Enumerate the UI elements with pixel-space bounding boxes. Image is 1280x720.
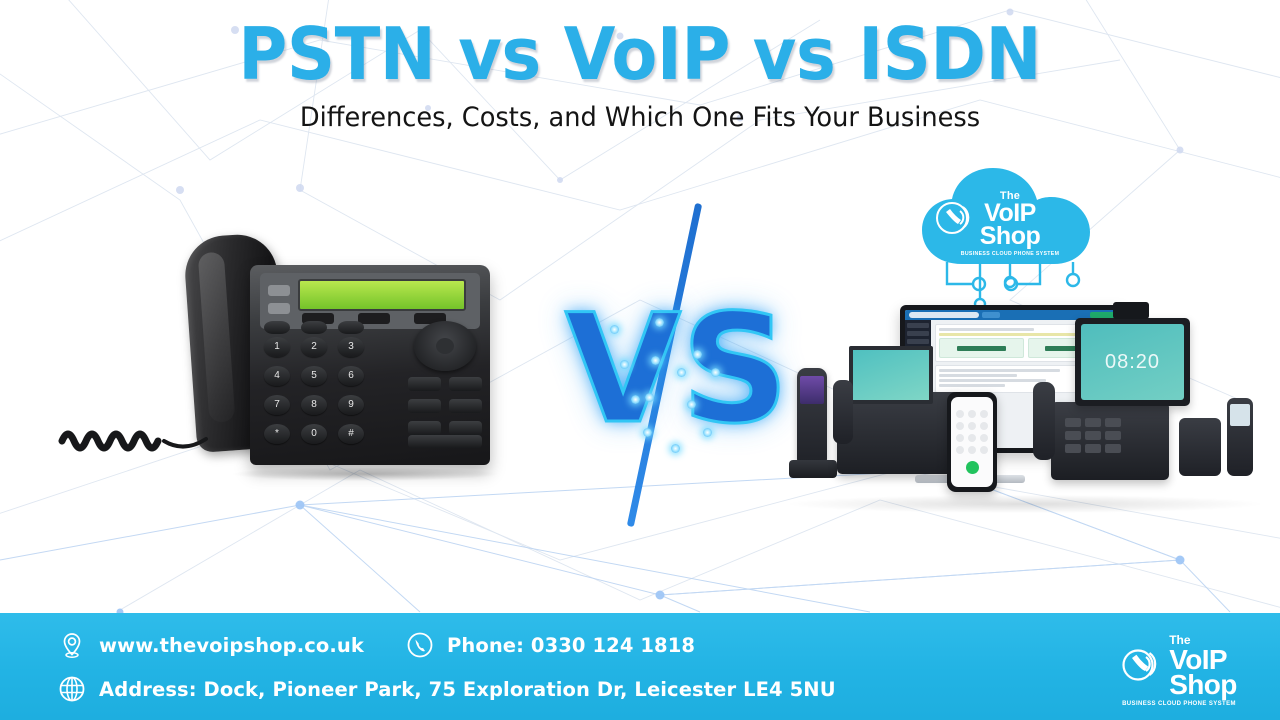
phone-base: 123 456 789 *0#	[250, 265, 490, 465]
logo-tagline: BUSINESS CLOUD PHONE SYSTEM	[920, 251, 1100, 257]
marquee-bulb	[703, 428, 712, 437]
versus-graphic: VS	[565, 200, 765, 530]
cordless-handset-screen	[800, 376, 824, 404]
marquee-bulb	[610, 325, 619, 334]
marquee-bulb	[687, 400, 696, 409]
message-key[interactable]	[449, 421, 482, 435]
pstn-desk-phone: 123 456 789 *0#	[50, 235, 490, 485]
dashboard-filter[interactable]	[982, 312, 1000, 318]
marquee-bulb	[643, 428, 652, 437]
keypad-row: 456	[264, 366, 394, 386]
marquee-bulb	[693, 350, 702, 359]
keypad-key[interactable]: 1	[264, 337, 290, 357]
keypad-key[interactable]: #	[338, 424, 364, 444]
marquee-bulb	[651, 356, 660, 365]
footer-phone[interactable]: Phone: 0330 124 1818	[406, 631, 695, 659]
keypad-key[interactable]: 9	[338, 395, 364, 415]
phone-sidekey[interactable]	[268, 285, 290, 296]
transfer-key[interactable]	[408, 399, 441, 413]
phone-cord	[54, 421, 214, 455]
footer-address-text: Address: Dock, Pioneer Park, 75 Explorat…	[99, 678, 836, 701]
headset-key[interactable]	[449, 377, 482, 391]
phone-function-key[interactable]	[301, 321, 327, 334]
keypad-row: *0#	[264, 424, 394, 444]
video-unit-screen: 08:20	[1081, 324, 1184, 400]
volume-rocker[interactable]	[408, 435, 482, 448]
phone-function-keys	[264, 321, 394, 334]
footer-website-text: www.thevoipshop.co.uk	[99, 634, 364, 657]
keypad-key[interactable]: 6	[338, 366, 364, 386]
voip-device-cluster: The VoIP Shop BUSINESS CLOUD PHONE SYSTE…	[775, 150, 1275, 613]
footer-logo-tagline: BUSINESS CLOUD PHONE SYSTEM	[1104, 701, 1254, 707]
marquee-bulb	[671, 444, 680, 453]
dashboard-search-field[interactable]	[909, 312, 979, 318]
keypad-key[interactable]: 7	[264, 395, 290, 415]
call-button[interactable]	[966, 461, 979, 474]
conference-key[interactable]	[449, 399, 482, 413]
phone-feature-keys	[408, 377, 482, 443]
keypad-key[interactable]: 3	[338, 337, 364, 357]
dialer-keypad[interactable]	[956, 410, 988, 454]
ip-phone-handset	[833, 380, 853, 444]
keypad-key[interactable]: 0	[301, 424, 327, 444]
executive-phone-keypad[interactable]	[1065, 418, 1121, 453]
circuit-lines-icon	[925, 262, 1095, 307]
footer-logo: The VoIP Shop BUSINESS CLOUD PHONE SYSTE…	[1104, 633, 1254, 707]
footer-logo-shop: Shop	[1169, 672, 1237, 697]
cordless-handset-cradle	[789, 460, 837, 478]
marquee-bulb	[620, 360, 629, 369]
touchscreen-ip-phone	[837, 392, 959, 474]
keypad-row: 123	[264, 337, 394, 357]
phone-ring-icon	[1121, 645, 1161, 685]
phone-lcd-display	[298, 279, 466, 311]
keypad-key[interactable]: 8	[301, 395, 327, 415]
phone-sidekey[interactable]	[268, 303, 290, 314]
versus-label: VS	[565, 295, 765, 445]
marquee-bulb	[631, 395, 640, 404]
video-unit-camera	[1113, 302, 1149, 319]
executive-phone-handset	[1033, 382, 1055, 460]
phone-function-key[interactable]	[264, 321, 290, 334]
smartphone-screen	[951, 397, 993, 487]
dect-base-station	[1179, 418, 1221, 476]
dect-handset-screen	[1230, 404, 1250, 426]
mute-key[interactable]	[408, 377, 441, 391]
ip-phone-touchscreen	[849, 346, 933, 404]
dashboard-stat	[939, 338, 1024, 358]
call-key[interactable]	[408, 421, 441, 435]
page-subtitle: Differences, Costs, and Which One Fits Y…	[300, 102, 980, 133]
contact-footer: www.thevoipshop.co.uk Phone: 0330 124 18…	[0, 613, 1280, 720]
main-illustration: 123 456 789 *0# VS	[0, 150, 1280, 613]
marquee-bulb	[711, 368, 720, 377]
phone-ring-icon	[934, 198, 974, 238]
phone-shadow	[230, 467, 500, 481]
footer-address[interactable]: Address: Dock, Pioneer Park, 75 Explorat…	[58, 675, 836, 703]
keypad-key[interactable]: *	[264, 424, 290, 444]
dashboard-nav-item[interactable]	[907, 323, 929, 328]
marquee-bulb	[655, 318, 664, 327]
poster-canvas: PSTN vs VoIP vs ISDN Differences, Costs,…	[0, 0, 1280, 720]
phone-keypad: 123 456 789 *0#	[264, 337, 394, 453]
footer-row-bottom: Address: Dock, Pioneer Park, 75 Explorat…	[58, 675, 836, 703]
dashboard-nav-item[interactable]	[907, 339, 929, 344]
footer-website[interactable]: www.thevoipshop.co.uk	[58, 631, 364, 659]
footer-phone-text: Phone: 0330 124 1818	[447, 634, 695, 657]
marquee-bulb	[677, 368, 686, 377]
marquee-bulb	[645, 393, 654, 402]
keypad-key[interactable]: 4	[264, 366, 290, 386]
keypad-row: 789	[264, 395, 394, 415]
page-title: PSTN vs VoIP vs ISDN	[239, 18, 1042, 90]
video-unit-time: 08:20	[1105, 351, 1160, 374]
phone-function-key[interactable]	[338, 321, 364, 334]
cloud-logo: The VoIP Shop BUSINESS CLOUD PHONE SYSTE…	[920, 168, 1100, 268]
globe-icon	[58, 675, 86, 703]
keypad-key[interactable]: 5	[301, 366, 327, 386]
location-pin-icon	[58, 631, 86, 659]
dashboard-nav-item[interactable]	[907, 331, 929, 336]
phone-navigation-dpad[interactable]	[414, 321, 476, 371]
cluster-shadow	[790, 495, 1260, 513]
keypad-key[interactable]: 2	[301, 337, 327, 357]
footer-row-top: www.thevoipshop.co.uk Phone: 0330 124 18…	[58, 631, 695, 659]
poster-header: PSTN vs VoIP vs ISDN Differences, Costs,…	[0, 0, 1280, 150]
phone-icon	[406, 631, 434, 659]
